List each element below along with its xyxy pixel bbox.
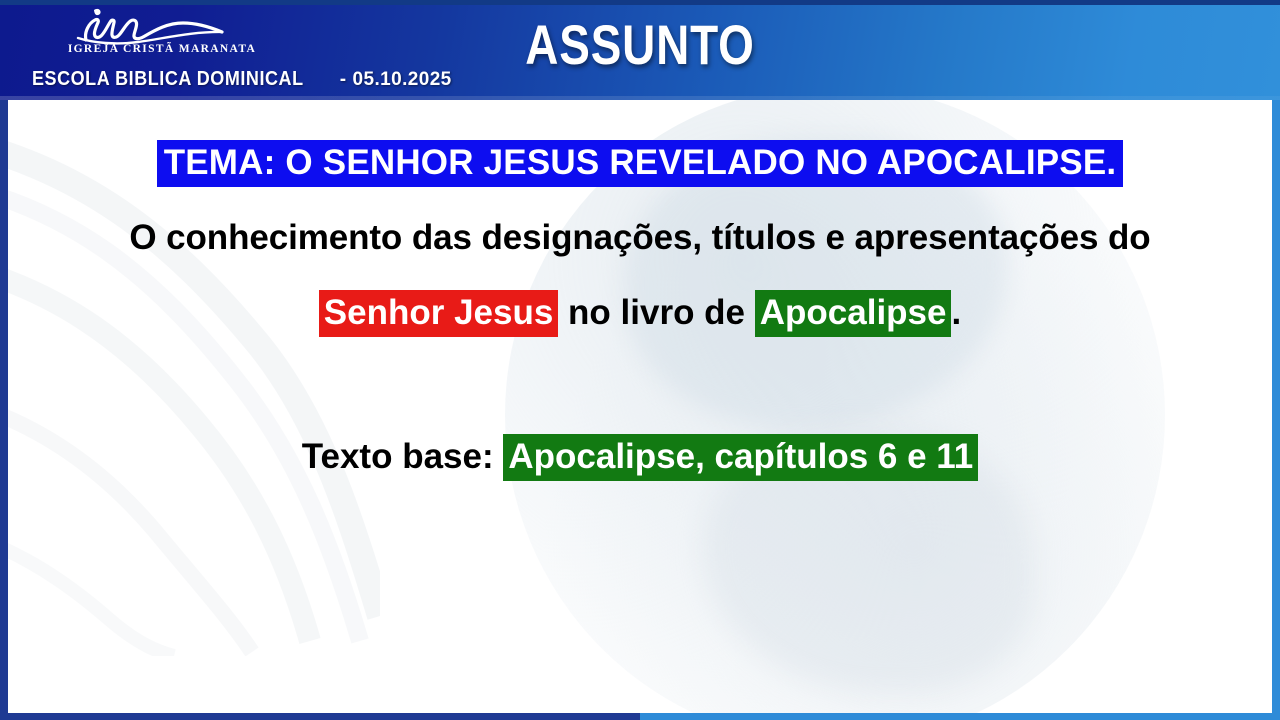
frame-border-right [1272,100,1280,720]
theme-highlight: TEMA: O SENHOR JESUS REVELADO NO APOCALI… [157,140,1124,187]
paragraph-line-1: O conhecimento das designações, títulos … [8,218,1272,258]
paragraph-line-2: Senhor Jesus no livro de Apocalipse. [8,293,1272,333]
header-top-rule [0,0,1280,5]
paragraph-line-2-period: . [951,293,961,332]
texto-base-label: Texto base: [302,437,504,476]
page-title: ASSUNTO [115,14,1165,76]
frame-border-left [0,100,8,720]
texto-base-reference: Apocalipse, capítulos 6 e 11 [503,434,978,481]
slide-header: IGREJA CRISTÃ MARANATA ESCOLA BIBLICA DO… [0,0,1280,100]
senhor-jesus-highlight: Senhor Jesus [319,290,559,337]
theme-line: TEMA: O SENHOR JESUS REVELADO NO APOCALI… [8,143,1272,183]
apocalipse-highlight: Apocalipse [755,290,952,337]
presentation-slide: IGREJA CRISTÃ MARANATA ESCOLA BIBLICA DO… [0,0,1280,720]
slide-body: TEMA: O SENHOR JESUS REVELADO NO APOCALI… [8,100,1272,713]
texto-base-line: Texto base: Apocalipse, capítulos 6 e 11 [8,437,1272,477]
frame-border-bottom-right [640,713,1280,720]
paragraph-line-2-middle: no livro de [558,293,754,332]
